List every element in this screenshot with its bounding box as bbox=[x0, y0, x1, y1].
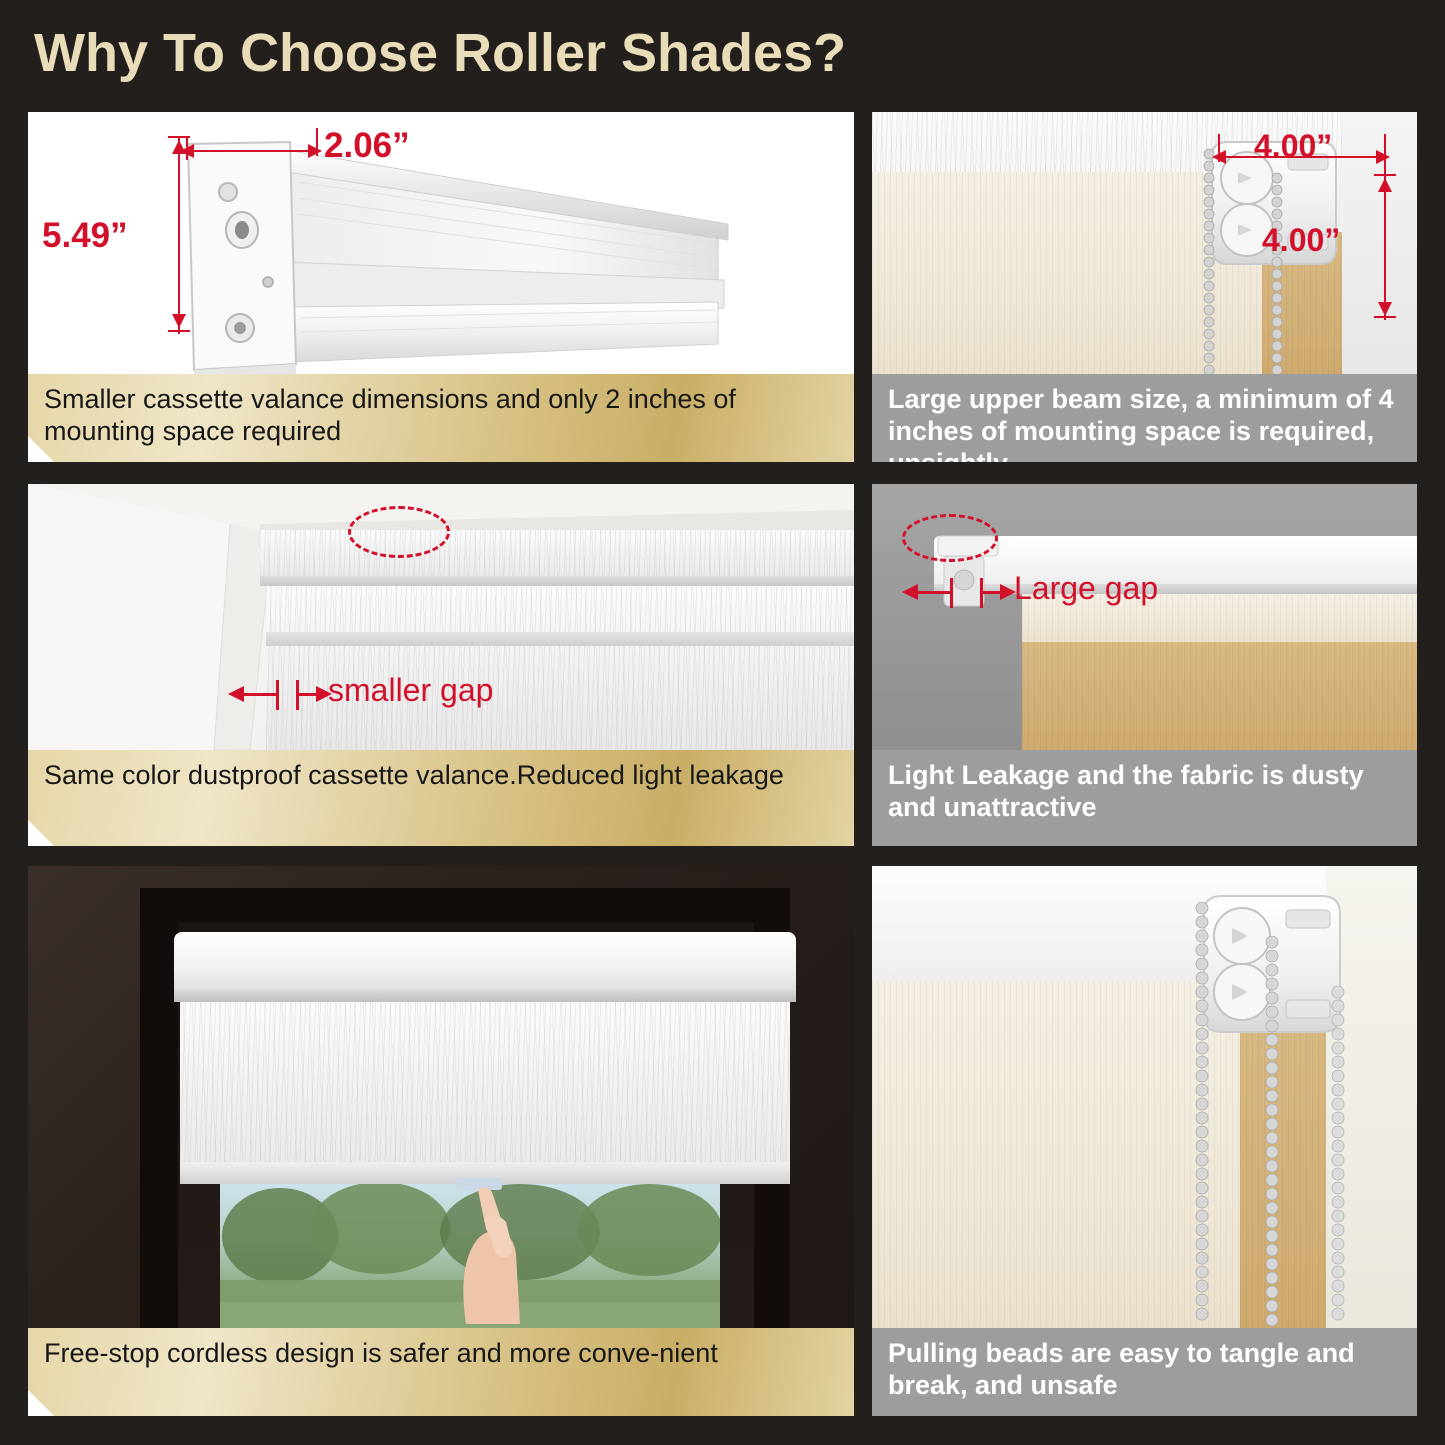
bead-chain-b bbox=[1264, 936, 1290, 1328]
valance-illustration bbox=[28, 112, 854, 374]
beads-fabric-cream bbox=[872, 976, 1242, 1328]
card-caption-5: Free-stop cordless design is safer and m… bbox=[28, 1328, 854, 1416]
card-caption-6: Pulling beads are easy to tangle and bre… bbox=[872, 1328, 1417, 1416]
valance-lip bbox=[260, 576, 854, 586]
bead-chain-c bbox=[1330, 986, 1356, 1328]
card-caption-3: Same color dustproof cassette valance.Re… bbox=[28, 750, 854, 846]
bottom-rail bbox=[266, 632, 854, 646]
fabric-tan-strip bbox=[1022, 642, 1417, 750]
card-large-upper-beam: 4.00” 4.00” Large upper beam size, a min… bbox=[872, 112, 1417, 462]
cordless-valance-lip bbox=[174, 990, 796, 1002]
card-caption-1: Smaller cassette valance dimensions and … bbox=[28, 374, 854, 462]
card-cassette-valance-dimensions: 2.06” 5.49” Smaller cassette valance dim… bbox=[28, 112, 854, 462]
cordless-shade-fabric bbox=[180, 1002, 790, 1184]
card-dustproof-cassette: smaller gap Same color dustproof cassett… bbox=[28, 484, 854, 846]
photo-large-upper-beam: 4.00” 4.00” bbox=[872, 112, 1417, 374]
beam-height-label: 4.00” bbox=[1262, 222, 1340, 259]
photo-cordless-design bbox=[28, 866, 854, 1328]
card-light-leakage: Large gap Light Leakage and the fabric i… bbox=[872, 484, 1417, 846]
smaller-gap-label: smaller gap bbox=[328, 672, 493, 709]
bead-chain-left bbox=[1202, 148, 1226, 374]
large-gap-label: Large gap bbox=[1014, 570, 1158, 607]
card-cordless-design: Free-stop cordless design is safer and m… bbox=[28, 866, 854, 1416]
photo-cassette-valance: 2.06” 5.49” bbox=[28, 112, 854, 374]
hand-illustration bbox=[426, 1184, 576, 1328]
shade-fabric bbox=[266, 586, 854, 750]
card-pulling-beads: Pulling beads are easy to tangle and bre… bbox=[872, 866, 1417, 1416]
width-dimension-label: 2.06” bbox=[324, 126, 410, 166]
cordless-valance bbox=[174, 932, 796, 998]
photo-light-leakage: Large gap bbox=[872, 484, 1417, 750]
beam-width-label: 4.00” bbox=[1254, 128, 1332, 165]
card-caption-4: Light Leakage and the fabric is dusty an… bbox=[872, 750, 1417, 846]
card-caption-2: Large upper beam size, a minimum of 4 in… bbox=[872, 374, 1417, 462]
infographic-page: Why To Choose Roller Shades? bbox=[0, 0, 1445, 1445]
height-dimension-label: 5.49” bbox=[42, 216, 128, 256]
bead-chain-a bbox=[1194, 902, 1220, 1328]
photo-dustproof-cassette: smaller gap bbox=[28, 484, 854, 750]
page-title: Why To Choose Roller Shades? bbox=[34, 22, 846, 84]
highlight-ellipse bbox=[348, 506, 450, 558]
highlight-ellipse-2 bbox=[902, 514, 998, 562]
bead-chain-right bbox=[1270, 172, 1294, 374]
photo-pulling-beads bbox=[872, 866, 1417, 1328]
